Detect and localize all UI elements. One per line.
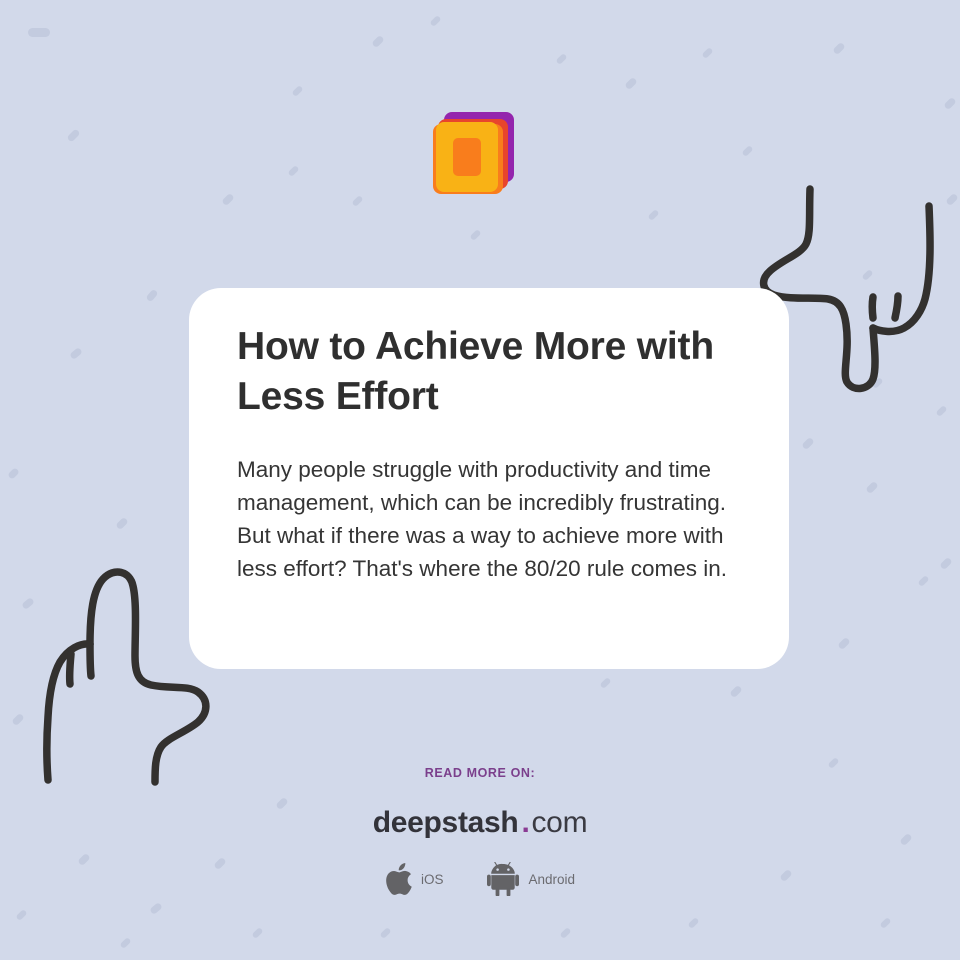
sprinkle-dot [429, 15, 441, 27]
sprinkle-dot [647, 209, 659, 221]
store-badges: iOS Android [0, 862, 960, 896]
sprinkle-dot [15, 909, 27, 921]
sprinkle-dot [28, 28, 50, 37]
sprinkle-dot [935, 405, 947, 417]
sprinkle-dot [66, 128, 80, 142]
sprinkle-dot [917, 575, 929, 587]
sprinkle-dot [145, 289, 158, 303]
sprinkle-dot [687, 917, 699, 929]
android-store-badge[interactable]: Android [487, 862, 575, 896]
read-more-label: READ MORE ON: [0, 766, 960, 780]
sprinkle-dot [943, 97, 956, 110]
sprinkle-dot [469, 229, 481, 241]
sprinkle-dot [287, 165, 299, 177]
sprinkle-dot [21, 597, 35, 610]
sprinkle-dot [351, 195, 363, 207]
footer: READ MORE ON: deepstash.com iOS [0, 766, 960, 896]
sprinkle-dot [939, 557, 952, 570]
sprinkle-dot [837, 637, 850, 650]
sprinkle-dot [119, 937, 131, 949]
sprinkle-dot [945, 193, 958, 206]
sprinkle-dot [291, 85, 303, 97]
sprinkle-dot [741, 145, 753, 157]
sprinkle-dot [729, 685, 742, 698]
ios-store-badge[interactable]: iOS [385, 863, 444, 896]
sprinkle-dot [149, 902, 163, 915]
sprinkle-dot [221, 193, 234, 206]
sprinkle-dot [251, 927, 263, 939]
sprinkle-dot [879, 917, 891, 929]
sprinkle-dot [599, 677, 611, 689]
ios-store-label: iOS [421, 872, 444, 887]
deepstash-logo [424, 98, 532, 206]
sprinkle-dot [801, 437, 814, 450]
sprinkle-dot [371, 35, 384, 48]
apple-icon [385, 863, 412, 896]
sprinkle-dot [7, 467, 20, 480]
card-body-text: Many people struggle with productivity a… [237, 453, 741, 585]
wordmark-dot: . [521, 806, 529, 839]
sprinkle-dot [832, 42, 845, 55]
sprinkle-dot [69, 347, 83, 360]
sprinkle-dot [701, 47, 713, 59]
sprinkle-dot [624, 77, 637, 90]
android-store-label: Android [528, 872, 575, 887]
sprinkle-dot [861, 269, 873, 281]
sprinkle-dot [865, 481, 878, 494]
wordmark-tld: com [531, 806, 587, 839]
card-title: How to Achieve More with Less Effort [237, 322, 741, 422]
wordmark-name: deepstash [373, 806, 519, 839]
sprinkle-dot [871, 377, 883, 389]
pointing-hand-up-icon [18, 552, 218, 787]
sprinkle-dot [559, 927, 571, 939]
sprinkle-dot [555, 53, 567, 65]
poster-canvas: How to Achieve More with Less Effort Man… [0, 0, 960, 960]
sprinkle-dot [379, 927, 391, 939]
android-icon [487, 862, 519, 896]
deepstash-wordmark[interactable]: deepstash.com [0, 806, 960, 840]
sprinkle-dot [115, 517, 128, 530]
article-card: How to Achieve More with Less Effort Man… [189, 288, 789, 669]
sprinkle-dot [11, 713, 24, 726]
